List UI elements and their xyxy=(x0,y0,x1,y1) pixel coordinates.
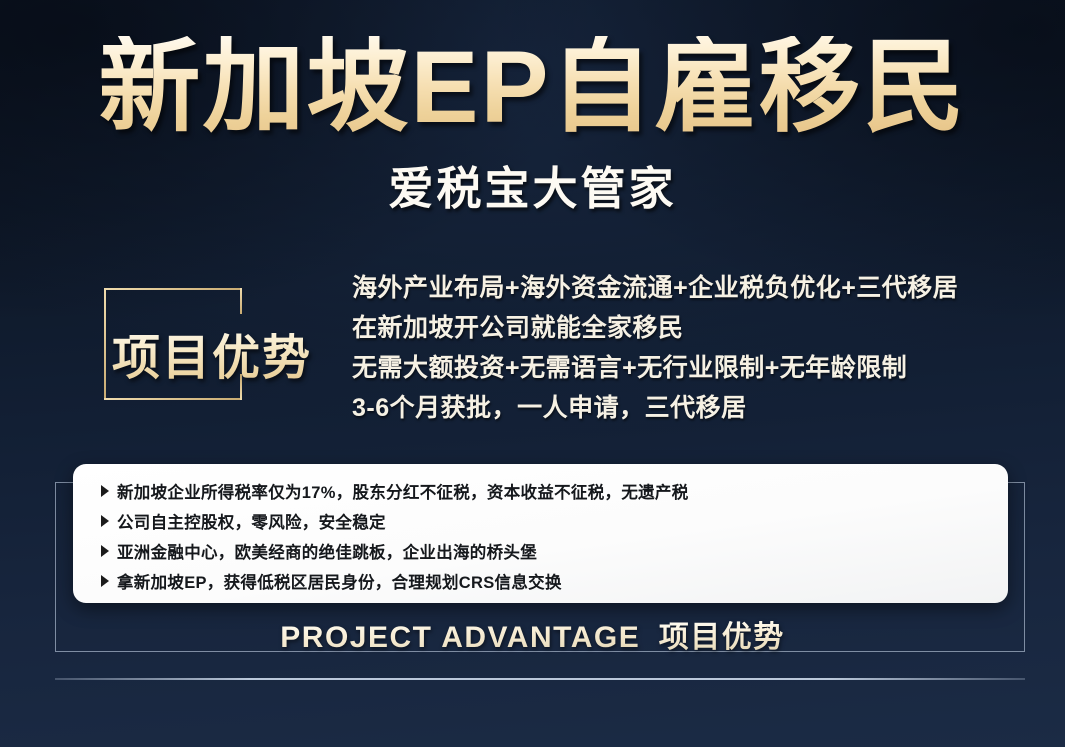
list-item: 亚洲金融中心，欧美经商的绝佳跳板，企业出海的桥头堡 xyxy=(73,537,1008,565)
sub-title: 爱税宝大管家 xyxy=(0,152,1065,217)
footer-caption-cn: 项目优势 xyxy=(659,621,785,654)
footer-caption: PROJECT ADVANTAGE 项目优势 xyxy=(0,612,1065,656)
triangle-right-icon xyxy=(101,575,109,587)
bottom-divider xyxy=(55,678,1025,680)
footer-caption-en: PROJECT ADVANTAGE xyxy=(280,621,640,654)
triangle-right-icon xyxy=(101,545,109,557)
frame-left-line xyxy=(104,288,106,400)
main-title: 新加坡EP自雇移民 xyxy=(0,36,1065,138)
badge-label: 项目优势 xyxy=(112,318,312,388)
triangle-right-icon xyxy=(101,485,109,497)
list-item-label: 新加坡企业所得税率仅为17%，股东分红不征税，资本收益不征税，无遗产税 xyxy=(117,479,689,503)
feature-line: 3-6个月获批，一人申请，三代移居 xyxy=(352,390,958,426)
triangle-right-icon xyxy=(101,515,109,527)
list-item: 公司自主控股权，零风险，安全稳定 xyxy=(73,507,1008,535)
list-item: 新加坡企业所得税率仅为17%，股东分红不征税，资本收益不征税，无遗产税 xyxy=(73,477,1008,505)
benefits-card: 新加坡企业所得税率仅为17%，股东分红不征税，资本收益不征税，无遗产税 公司自主… xyxy=(73,464,1008,603)
frame-top-line xyxy=(104,288,242,290)
poster-header: 新加坡EP自雇移民 爱税宝大管家 xyxy=(0,36,1065,217)
frame-bottom-line xyxy=(104,398,242,400)
feature-line: 海外产业布局+海外资金流通+企业税负优化+三代移居 xyxy=(352,270,958,306)
feature-line: 在新加坡开公司就能全家移民 xyxy=(352,310,958,346)
list-item-label: 公司自主控股权，零风险，安全稳定 xyxy=(117,509,386,533)
feature-line: 无需大额投资+无需语言+无行业限制+无年龄限制 xyxy=(352,350,958,386)
feature-list: 海外产业布局+海外资金流通+企业税负优化+三代移居 在新加坡开公司就能全家移民 … xyxy=(352,270,958,430)
list-item-label: 拿新加坡EP，获得低税区居民身份，合理规划CRS信息交换 xyxy=(117,569,562,593)
list-item: 拿新加坡EP，获得低税区居民身份，合理规划CRS信息交换 xyxy=(73,567,1008,595)
poster-canvas: 新加坡EP自雇移民 爱税宝大管家 项目优势 海外产业布局+海外资金流通+企业税负… xyxy=(0,0,1065,747)
list-item-label: 亚洲金融中心，欧美经商的绝佳跳板，企业出海的桥头堡 xyxy=(117,539,537,563)
frame-right-top-bracket xyxy=(240,288,242,314)
project-advantage-badge: 项目优势 xyxy=(104,288,242,400)
